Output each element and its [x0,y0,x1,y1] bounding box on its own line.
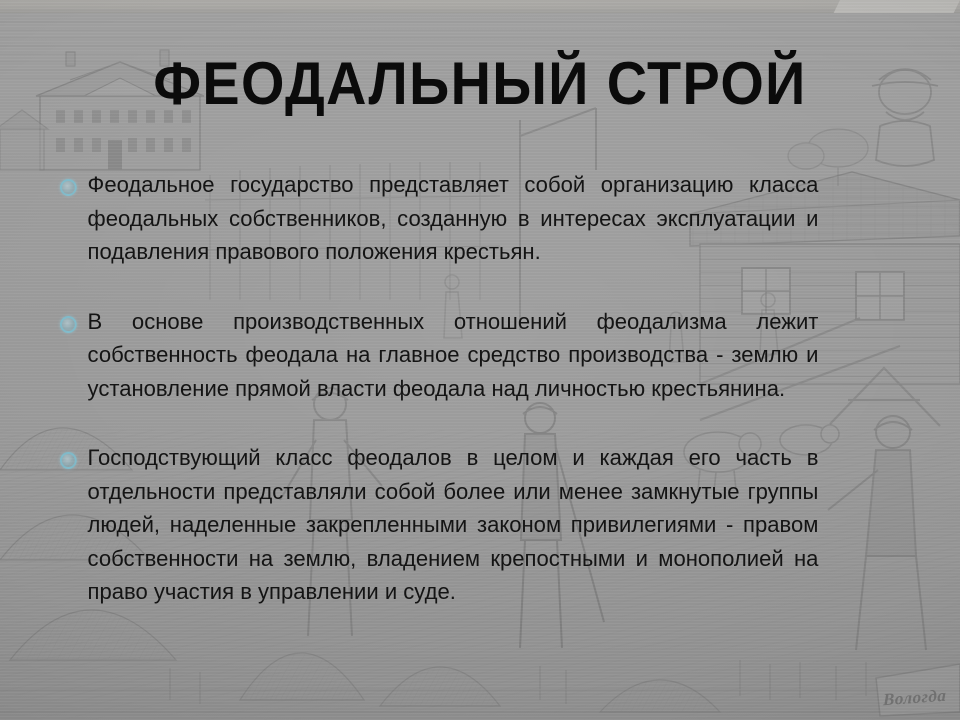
list-item-text: В основе производственных отношений феод… [88,305,819,406]
slide-content: ФЕОДАЛЬНЫЙ СТРОЙ Феодальное государство … [0,0,960,720]
list-item-text: Господствующий класс феодалов в целом и … [88,441,819,609]
slide: Вологда ФЕОДАЛЬНЫЙ СТРОЙ Феодальное госу… [0,0,960,720]
ring-bullet-icon [60,179,77,196]
ring-bullet-icon [60,316,77,333]
list-item: В основе производственных отношений феод… [58,305,818,406]
bullet-list: Феодальное государство представляет собо… [58,168,830,609]
list-item: Феодальное государство представляет собо… [58,168,818,269]
page-title: ФЕОДАЛЬНЫЙ СТРОЙ [34,53,927,115]
list-item-text: Феодальное государство представляет собо… [88,168,819,269]
list-item: Господствующий класс феодалов в целом и … [58,441,818,609]
ring-bullet-icon [60,452,77,469]
